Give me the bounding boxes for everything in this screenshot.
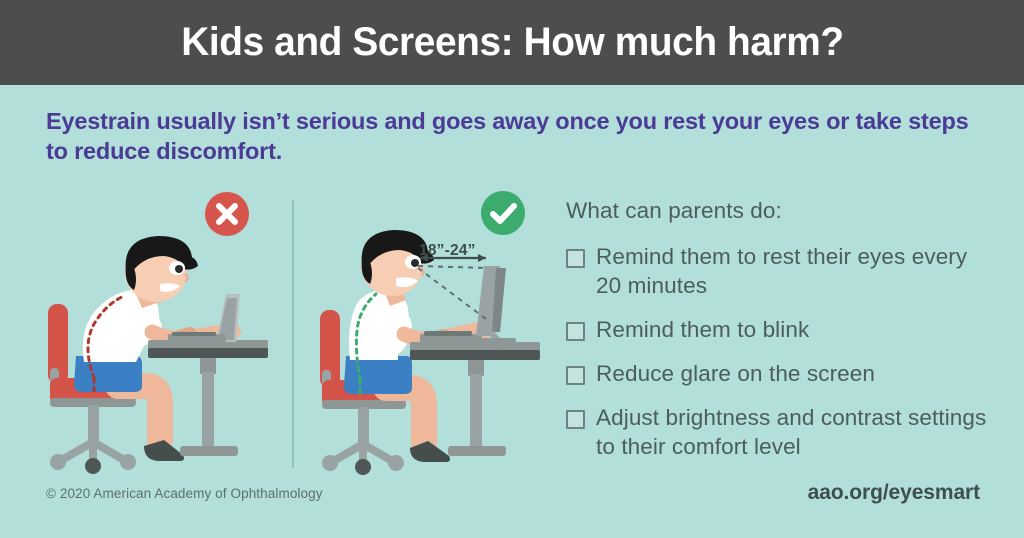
copyright-text: © 2020 American Academy of Ophthalmology	[46, 486, 323, 501]
page-title: Kids and Screens: How much harm?	[181, 20, 843, 65]
checkbox-icon[interactable]	[566, 249, 585, 268]
list-item-label: Reduce glare on the screen	[596, 359, 875, 388]
checkbox-icon[interactable]	[566, 366, 585, 385]
illustration-bad-posture	[40, 228, 290, 478]
list-item[interactable]: Reduce glare on the screen	[566, 359, 996, 388]
list-item[interactable]: Remind them to rest their eyes every 20 …	[566, 242, 996, 300]
list-item[interactable]: Adjust brightness and contrast settings …	[566, 403, 996, 461]
list-item-label: Adjust brightness and contrast settings …	[596, 403, 996, 461]
list-item-label: Remind them to blink	[596, 315, 809, 344]
website-url[interactable]: aao.org/eyesmart	[808, 481, 980, 505]
checkbox-icon[interactable]	[566, 322, 585, 341]
checkbox-icon[interactable]	[566, 410, 585, 429]
panel-heading: What can parents do:	[566, 196, 996, 226]
panel-divider	[292, 200, 294, 468]
advice-checklist: Remind them to rest their eyes every 20 …	[566, 242, 996, 461]
subtitle-text: Eyestrain usually isn’t serious and goes…	[46, 106, 986, 166]
check-icon	[481, 191, 525, 235]
list-item-label: Remind them to rest their eyes every 20 …	[596, 242, 996, 300]
x-icon	[205, 192, 249, 236]
list-item[interactable]: Remind them to blink	[566, 315, 996, 344]
illustration-good-posture	[300, 228, 550, 478]
parents-actions-panel: What can parents do: Remind them to rest…	[566, 196, 996, 476]
viewing-distance-label: 18”-24”	[419, 242, 476, 260]
infographic-canvas: Kids and Screens: How much harm? Eyestra…	[0, 0, 1024, 538]
header-bar: Kids and Screens: How much harm?	[0, 0, 1024, 85]
